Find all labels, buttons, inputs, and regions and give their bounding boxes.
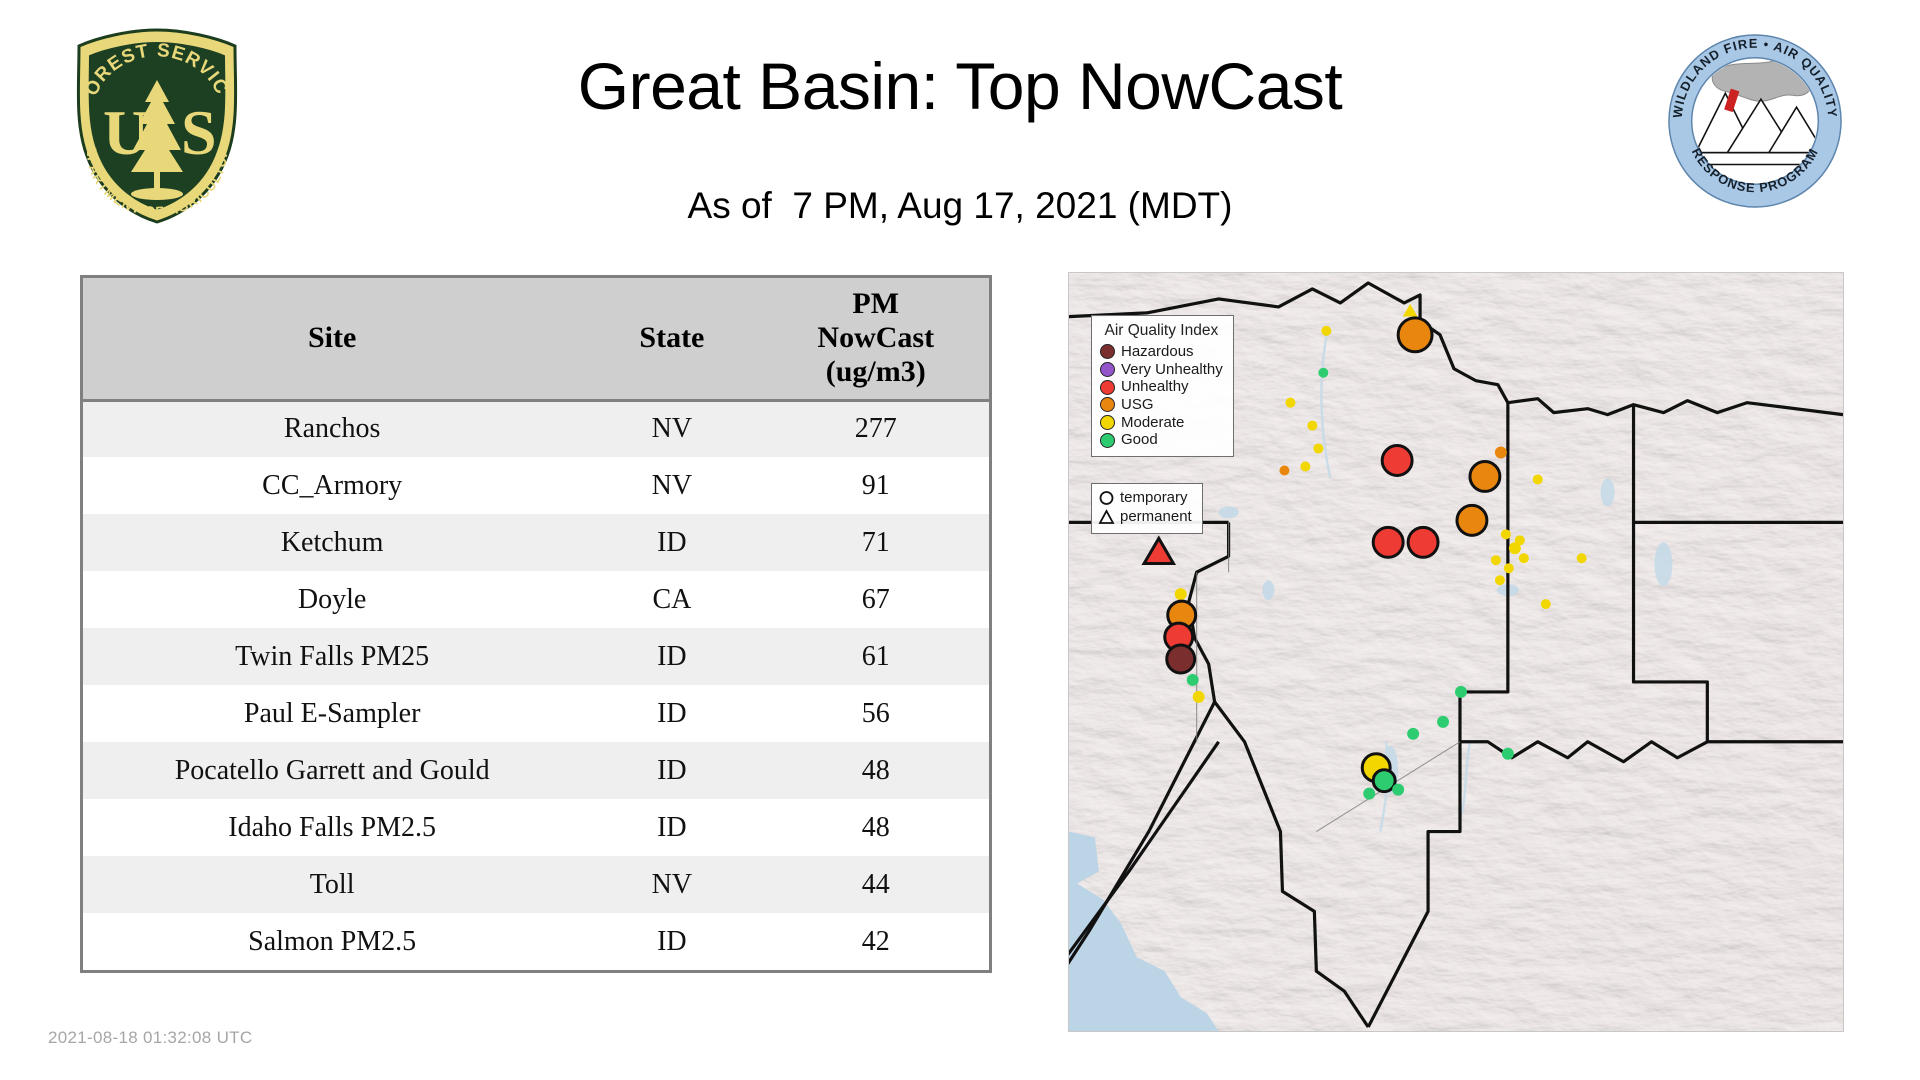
monitor-marker-temporary[interactable]: [1437, 716, 1449, 728]
monitor-marker-temporary[interactable]: [1187, 674, 1199, 686]
monitor-marker-temporary[interactable]: [1495, 575, 1505, 585]
state-cell: ID: [581, 742, 762, 799]
column-header-pm-nowcast: PM NowCast (ug/m3): [762, 278, 989, 400]
state-cell: ID: [581, 799, 762, 856]
aqi-legend-label: Moderate: [1121, 414, 1184, 432]
usda-forest-service-shield-logo: FOREST SERVICE U S DEPARTMENT OF AGRICUL…: [56, 26, 258, 226]
monitor-marker-temporary[interactable]: [1175, 588, 1187, 600]
site-cell: Toll: [83, 856, 581, 913]
table-row: Paul E-SamplerID56: [83, 685, 989, 742]
monitor-marker-temporary[interactable]: [1470, 462, 1500, 492]
site-cell: Ketchum: [83, 514, 581, 571]
pm-header-line-1: PM: [766, 287, 985, 321]
fs-logo-letter-s: S: [181, 97, 217, 168]
monitor-marker-temporary[interactable]: [1491, 555, 1501, 565]
table-row: Salmon PM2.5ID42: [83, 913, 989, 970]
monitor-marker-temporary[interactable]: [1300, 462, 1310, 472]
aqi-legend-row: USG: [1100, 396, 1223, 414]
air-quality-report-page: FOREST SERVICE U S DEPARTMENT OF AGRICUL…: [0, 0, 1920, 1080]
monitor-marker-temporary[interactable]: [1408, 527, 1438, 557]
footer-timestamp: 2021-08-18 01:32:08 UTC: [48, 1028, 252, 1048]
monitor-marker-temporary[interactable]: [1509, 542, 1521, 554]
monitor-marker-temporary[interactable]: [1541, 599, 1551, 609]
column-header-state: State: [581, 278, 762, 400]
monitor-marker-temporary[interactable]: [1502, 748, 1514, 760]
monitor-marker-temporary[interactable]: [1382, 446, 1412, 476]
state-cell: ID: [581, 913, 762, 970]
aqi-swatch-icon: [1100, 362, 1115, 377]
aqi-legend-label: Good: [1121, 431, 1158, 449]
pm-nowcast-cell: 42: [762, 913, 989, 970]
legend-row-temporary: temporary: [1098, 489, 1192, 508]
triangle-marker-icon: [1098, 509, 1115, 525]
site-cell: Pocatello Garrett and Gould: [83, 742, 581, 799]
top-nowcast-table: Site State PM NowCast (ug/m3) RanchosNV2…: [83, 278, 989, 970]
monitor-marker-temporary[interactable]: [1455, 686, 1467, 698]
monitor-marker-temporary[interactable]: [1495, 447, 1507, 459]
aqi-legend-label: Hazardous: [1121, 343, 1194, 361]
legend-label-permanent: permanent: [1120, 508, 1192, 527]
monitor-marker-temporary[interactable]: [1313, 444, 1323, 454]
aqi-legend-row: Very Unhealthy: [1100, 361, 1223, 379]
table-body: RanchosNV277CC_ArmoryNV91KetchumID71Doyl…: [83, 400, 989, 970]
monitor-marker-permanent[interactable]: [1403, 304, 1418, 317]
page-subtitle: As of 7 PM, Aug 17, 2021 (MDT): [300, 185, 1620, 227]
pm-nowcast-cell: 61: [762, 628, 989, 685]
aqi-swatch-icon: [1100, 415, 1115, 430]
aqi-legend-row: Good: [1100, 431, 1223, 449]
aqi-legend-title: Air Quality Index: [1100, 322, 1223, 340]
monitor-marker-temporary[interactable]: [1193, 691, 1205, 703]
pm-nowcast-cell: 91: [762, 457, 989, 514]
page-title: Great Basin: Top NowCast: [300, 52, 1620, 121]
monitor-marker-temporary[interactable]: [1457, 505, 1487, 535]
pm-header-line-2: NowCast: [766, 321, 985, 355]
aqi-legend-label: USG: [1121, 396, 1154, 414]
pm-nowcast-cell: 67: [762, 571, 989, 628]
site-cell: Ranchos: [83, 400, 581, 457]
table-row: Idaho Falls PM2.5ID48: [83, 799, 989, 856]
state-cell: ID: [581, 514, 762, 571]
pm-nowcast-cell: 56: [762, 685, 989, 742]
site-cell: Salmon PM2.5: [83, 913, 581, 970]
monitor-marker-temporary[interactable]: [1321, 326, 1331, 336]
pm-nowcast-cell: 277: [762, 400, 989, 457]
table-row: Twin Falls PM25ID61: [83, 628, 989, 685]
table-row: DoyleCA67: [83, 571, 989, 628]
legend-row-permanent: permanent: [1098, 508, 1192, 527]
monitor-marker-temporary[interactable]: [1504, 563, 1514, 573]
table-row: TollNV44: [83, 856, 989, 913]
monitor-marker-temporary[interactable]: [1533, 474, 1543, 484]
table-row: RanchosNV277: [83, 400, 989, 457]
state-cell: ID: [581, 628, 762, 685]
aqi-swatch-icon: [1100, 380, 1115, 395]
monitor-marker-temporary[interactable]: [1398, 318, 1432, 352]
monitor-marker-temporary[interactable]: [1307, 421, 1317, 431]
monitor-marker-temporary[interactable]: [1373, 770, 1395, 792]
circle-marker-icon: [1098, 490, 1115, 506]
monitor-marker-temporary[interactable]: [1577, 553, 1587, 563]
aqi-legend-row: Unhealthy: [1100, 378, 1223, 396]
monitor-marker-temporary[interactable]: [1519, 553, 1529, 563]
table-row: Pocatello Garrett and GouldID48: [83, 742, 989, 799]
marker-type-legend: temporary permanent: [1091, 483, 1203, 534]
monitor-marker-temporary[interactable]: [1373, 527, 1403, 557]
aqi-swatch-icon: [1100, 344, 1115, 359]
pm-nowcast-cell: 48: [762, 799, 989, 856]
pm-nowcast-cell: 71: [762, 514, 989, 571]
aqi-legend: Air Quality Index HazardousVery Unhealth…: [1091, 315, 1234, 457]
aqi-legend-row: Hazardous: [1100, 343, 1223, 361]
monitor-marker-temporary[interactable]: [1407, 728, 1419, 740]
great-basin-monitor-map[interactable]: Air Quality Index HazardousVery Unhealth…: [1068, 272, 1844, 1032]
monitor-marker-temporary[interactable]: [1363, 788, 1375, 800]
state-cell: NV: [581, 457, 762, 514]
monitor-marker-temporary[interactable]: [1167, 645, 1195, 673]
wfaqrp-logo: WILDLAND FIRE • AIR QUALITY RESPONSE PRO…: [1666, 32, 1844, 210]
aqi-swatch-icon: [1100, 433, 1115, 448]
table-row: KetchumID71: [83, 514, 989, 571]
monitor-marker-temporary[interactable]: [1501, 529, 1511, 539]
state-cell: ID: [581, 685, 762, 742]
site-cell: Doyle: [83, 571, 581, 628]
aqi-legend-row: Moderate: [1100, 414, 1223, 432]
column-header-site: Site: [83, 278, 581, 400]
top-nowcast-table-container: Site State PM NowCast (ug/m3) RanchosNV2…: [80, 275, 992, 973]
aqi-legend-label: Unhealthy: [1121, 378, 1189, 396]
pm-nowcast-cell: 44: [762, 856, 989, 913]
legend-label-temporary: temporary: [1120, 489, 1188, 508]
monitor-marker-temporary[interactable]: [1392, 784, 1404, 796]
state-cell: CA: [581, 571, 762, 628]
state-cell: NV: [581, 856, 762, 913]
pm-nowcast-cell: 48: [762, 742, 989, 799]
monitor-marker-temporary[interactable]: [1279, 466, 1289, 476]
monitor-marker-permanent[interactable]: [1144, 538, 1173, 563]
monitor-marker-temporary[interactable]: [1285, 398, 1295, 408]
site-cell: Idaho Falls PM2.5: [83, 799, 581, 856]
aqi-swatch-icon: [1100, 397, 1115, 412]
aqi-legend-label: Very Unhealthy: [1121, 361, 1223, 379]
monitor-marker-temporary[interactable]: [1318, 368, 1328, 378]
table-header: Site State PM NowCast (ug/m3): [83, 278, 989, 400]
site-cell: Paul E-Sampler: [83, 685, 581, 742]
pm-header-line-3: (ug/m3): [766, 355, 985, 389]
site-cell: Twin Falls PM25: [83, 628, 581, 685]
table-row: CC_ArmoryNV91: [83, 457, 989, 514]
state-cell: NV: [581, 400, 762, 457]
site-cell: CC_Armory: [83, 457, 581, 514]
